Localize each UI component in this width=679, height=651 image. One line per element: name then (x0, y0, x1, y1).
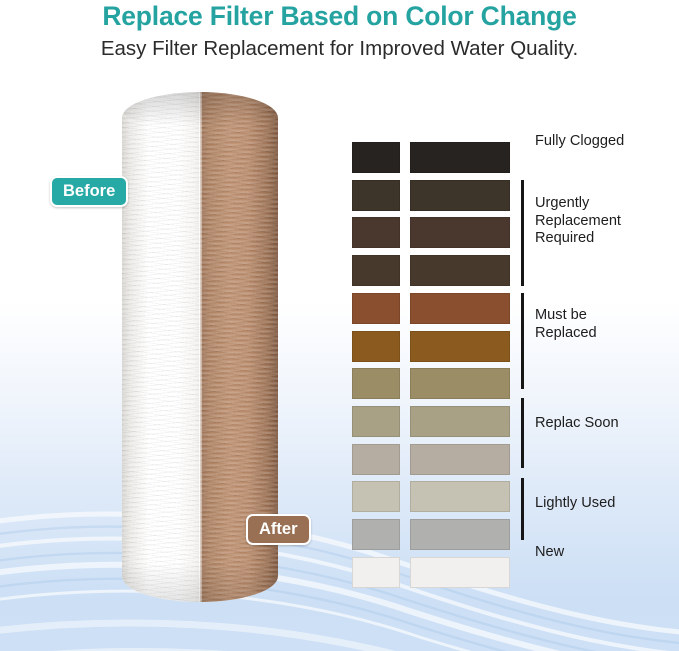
swatch-row (352, 142, 510, 173)
swatch-row (352, 519, 510, 550)
swatch-row (352, 217, 510, 248)
swatch-narrow (352, 331, 400, 362)
swatch-wide (410, 293, 510, 324)
group-label: New (535, 544, 564, 562)
swatch-narrow (352, 142, 400, 173)
swatch-narrow (352, 217, 400, 248)
swatch-wide (410, 255, 510, 286)
swatch-wide (410, 142, 510, 173)
group-label: Urgently Replacement Required (535, 195, 621, 248)
page-title: Replace Filter Based on Color Change (0, 0, 679, 31)
swatch-row (352, 255, 510, 286)
header: Replace Filter Based on Color Change Eas… (0, 0, 679, 62)
group-label: Replac Soon (535, 415, 619, 433)
group-label: Must be Replaced (535, 307, 597, 342)
badge-before: Before (50, 176, 128, 207)
swatch-wide (410, 519, 510, 550)
color-reference-chart: Fully CloggedUrgently Replacement Requir… (0, 0, 679, 651)
swatch-narrow (352, 481, 400, 512)
group-label: Lightly Used (535, 495, 615, 513)
swatch-narrow (352, 293, 400, 324)
swatch-wide (410, 481, 510, 512)
swatch-wide (410, 331, 510, 362)
group-bracket (521, 293, 524, 389)
badge-after: After (246, 514, 311, 545)
swatch-row (352, 481, 510, 512)
swatch-wide (410, 180, 510, 211)
swatch-narrow (352, 444, 400, 475)
swatch-wide (410, 557, 510, 588)
swatch-row (352, 180, 510, 211)
swatch-row (352, 293, 510, 324)
swatch-wide (410, 406, 510, 437)
swatch-narrow (352, 180, 400, 211)
group-bracket (521, 180, 524, 286)
infographic-stage: Replace Filter Based on Color Change Eas… (0, 0, 679, 651)
group-bracket (521, 398, 524, 468)
group-label: Fully Clogged (535, 133, 624, 151)
swatch-row (352, 406, 510, 437)
swatch-narrow (352, 406, 400, 437)
swatch-row (352, 368, 510, 399)
swatch-row (352, 557, 510, 588)
swatch-wide (410, 368, 510, 399)
swatch-narrow (352, 368, 400, 399)
group-bracket (521, 478, 524, 540)
swatch-narrow (352, 255, 400, 286)
swatch-narrow (352, 557, 400, 588)
swatch-wide (410, 217, 510, 248)
swatch-row (352, 331, 510, 362)
swatch-wide (410, 444, 510, 475)
swatch-row (352, 444, 510, 475)
swatch-narrow (352, 519, 400, 550)
page-subtitle: Easy Filter Replacement for Improved Wat… (0, 31, 679, 62)
